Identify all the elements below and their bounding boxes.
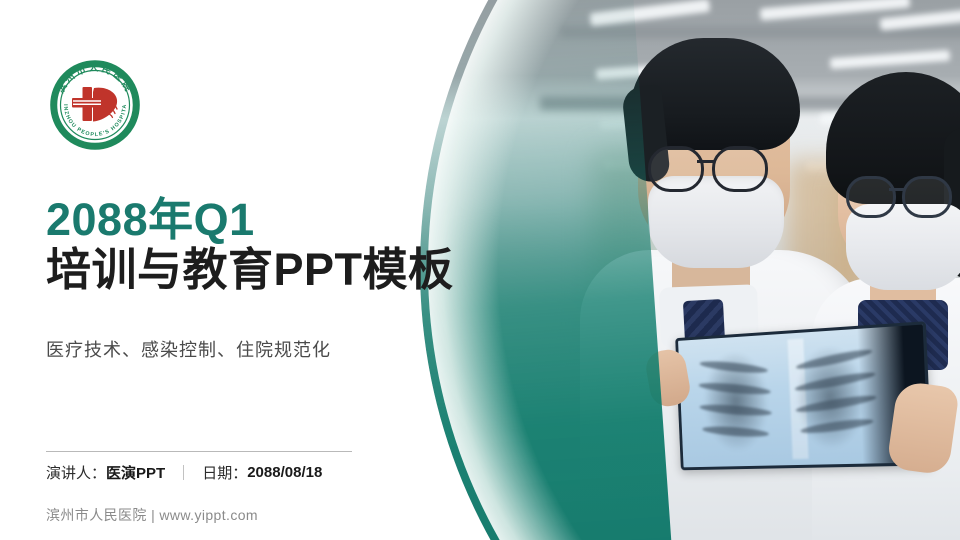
- presenter-value: 医演PPT: [106, 462, 165, 483]
- doctor-male-eyeglasses: [648, 146, 704, 192]
- eyeglass-bridge: [697, 160, 715, 163]
- doctor-female-eyeglasses: [902, 176, 952, 218]
- hospital-logo-icon: 滨州市人民医院 BINZHOU PEOPLE'S HOSPITAL: [48, 58, 142, 152]
- meta-separator: [183, 465, 184, 480]
- presenter-label: 演讲人：: [46, 462, 106, 483]
- page-title-main: 培训与教育PPT模板: [46, 245, 516, 295]
- page-subtitle: 医疗技术、感染控制、住院规范化: [46, 336, 331, 362]
- eyeglass-bridge: [889, 188, 905, 191]
- doctor-female-eyeglasses: [846, 176, 896, 218]
- presenter-meta: 演讲人： 医演PPT 日期： 2088/08/18: [46, 462, 322, 483]
- meta-divider: [46, 451, 352, 452]
- doctor-male-eyeglasses: [712, 146, 768, 192]
- date-value: 2088/08/18: [247, 464, 322, 481]
- footer-text: 滨州市人民医院 | www.yippt.com: [46, 505, 258, 525]
- title-block: 2088年Q1 培训与教育PPT模板: [46, 196, 516, 295]
- presentation-slide: 滨州市人民医院 BINZHOU PEOPLE'S HOSPITAL: [0, 0, 960, 540]
- page-title-year: 2088年Q1: [46, 196, 516, 245]
- left-content-panel: 滨州市人民医院 BINZHOU PEOPLE'S HOSPITAL: [0, 0, 430, 540]
- date-label: 日期：: [202, 462, 247, 483]
